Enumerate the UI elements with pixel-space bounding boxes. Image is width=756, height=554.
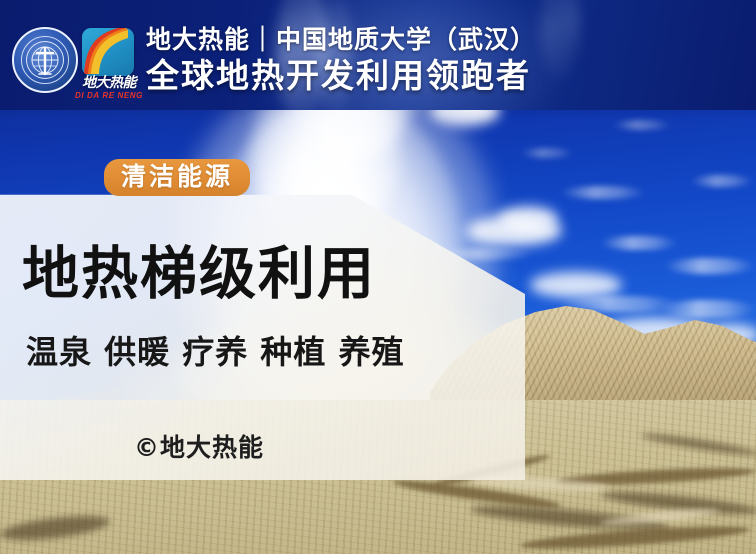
header-line-1: 地大热能｜中国地质大学（武汉） bbox=[146, 27, 536, 52]
header-content: 地大热能 DI DA RE NENG 地大热能｜中国地质大学（武汉） 全球地热开… bbox=[0, 0, 756, 110]
university-seal-icon bbox=[12, 27, 78, 93]
cloud-streak bbox=[612, 120, 672, 130]
cloud-streak bbox=[600, 236, 678, 250]
cloud-puff bbox=[530, 272, 622, 298]
cloud-streak bbox=[660, 300, 756, 318]
cloud-streak bbox=[664, 258, 756, 274]
geothermal-poster: 地大热能 DI DA RE NENG 地大热能｜中国地质大学（武汉） 全球地热开… bbox=[0, 0, 756, 554]
header-bar: 地大热能 DI DA RE NENG 地大热能｜中国地质大学（武汉） 全球地热开… bbox=[0, 0, 756, 110]
seal-emblem-icon bbox=[14, 29, 76, 91]
header-line-2: 全球地热开发利用领跑者 bbox=[146, 59, 531, 92]
logo-pinyin-text: DI DA RE NENG bbox=[72, 92, 146, 100]
clean-energy-badge: 清洁能源 bbox=[104, 159, 250, 196]
cloud-streak bbox=[520, 148, 574, 158]
poster-title: 地热梯级利用 bbox=[22, 246, 376, 303]
cloud-streak bbox=[690, 175, 754, 187]
logo-swoosh-icon bbox=[82, 28, 134, 76]
didareneng-logo-icon bbox=[82, 28, 134, 76]
cloud-puff bbox=[498, 206, 558, 232]
cloud-streak bbox=[560, 186, 646, 199]
copyright-notice: ©地大热能 bbox=[134, 435, 264, 460]
logo-chinese-text: 地大热能 bbox=[74, 76, 144, 90]
poster-subtitle: 温泉 供暖 疗养 种植 养殖 bbox=[26, 336, 405, 368]
